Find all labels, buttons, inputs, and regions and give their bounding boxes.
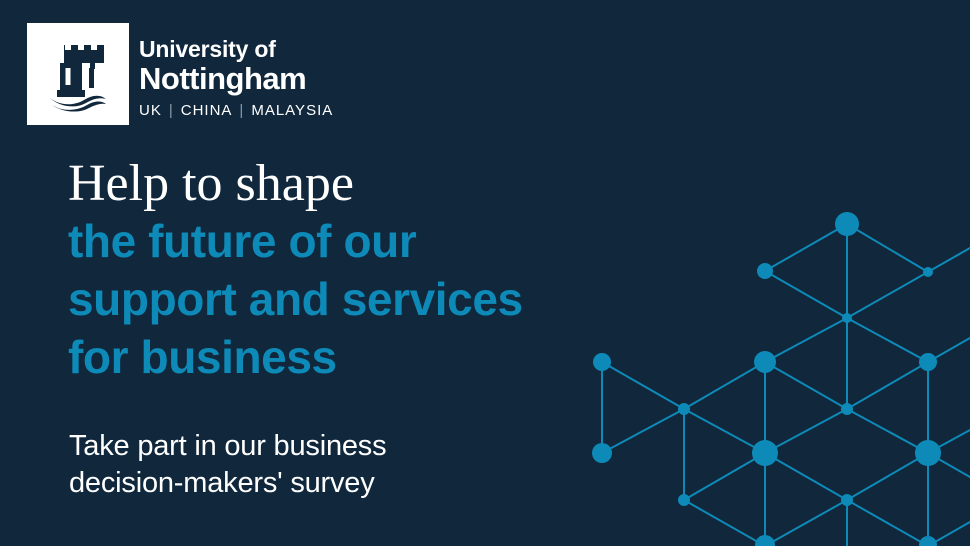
network-node bbox=[755, 535, 775, 546]
subtitle-line-2: decision-makers' survey bbox=[69, 465, 589, 502]
network-node bbox=[842, 313, 852, 323]
network-node bbox=[841, 494, 853, 506]
headline-line-4: for business bbox=[68, 329, 628, 387]
network-nodes bbox=[592, 212, 941, 546]
campus-malaysia: MALAYSIA bbox=[251, 102, 333, 119]
network-node bbox=[678, 494, 690, 506]
campus-separator-2: | bbox=[239, 102, 244, 119]
network-node bbox=[754, 351, 776, 373]
network-node bbox=[841, 403, 853, 415]
campus-uk: UK bbox=[139, 102, 162, 119]
headline-line-2: the future of our bbox=[68, 213, 628, 271]
network-edges bbox=[602, 224, 970, 546]
network-node bbox=[592, 443, 612, 463]
university-logo-lockup: University of Nottingham UK | CHINA | MA… bbox=[27, 23, 333, 125]
subtitle-line-1: Take part in our business bbox=[69, 428, 589, 465]
crest-box bbox=[27, 23, 129, 125]
network-node bbox=[919, 353, 937, 371]
network-node bbox=[757, 263, 773, 279]
logo-campuses: UK | CHINA | MALAYSIA bbox=[139, 102, 333, 119]
network-node bbox=[919, 536, 937, 546]
logo-wordmark: University of Nottingham UK | CHINA | MA… bbox=[139, 23, 333, 119]
castle-tower-crest-icon bbox=[42, 35, 114, 113]
network-node bbox=[752, 440, 778, 466]
logo-university-of: University of bbox=[139, 37, 333, 62]
campus-separator-1: | bbox=[169, 102, 174, 119]
headline-line-1: Help to shape bbox=[68, 155, 628, 213]
network-node bbox=[678, 403, 690, 415]
campus-china: CHINA bbox=[181, 102, 233, 119]
headline: Help to shape the future of our support … bbox=[68, 155, 628, 387]
subtitle: Take part in our business decision-maker… bbox=[69, 428, 589, 502]
network-node bbox=[835, 212, 859, 236]
logo-nottingham: Nottingham bbox=[139, 62, 333, 95]
promotional-banner: University of Nottingham UK | CHINA | MA… bbox=[0, 0, 970, 546]
network-graphic bbox=[570, 0, 970, 546]
headline-line-3: support and services bbox=[68, 271, 628, 329]
network-node bbox=[915, 440, 941, 466]
network-node bbox=[923, 267, 933, 277]
